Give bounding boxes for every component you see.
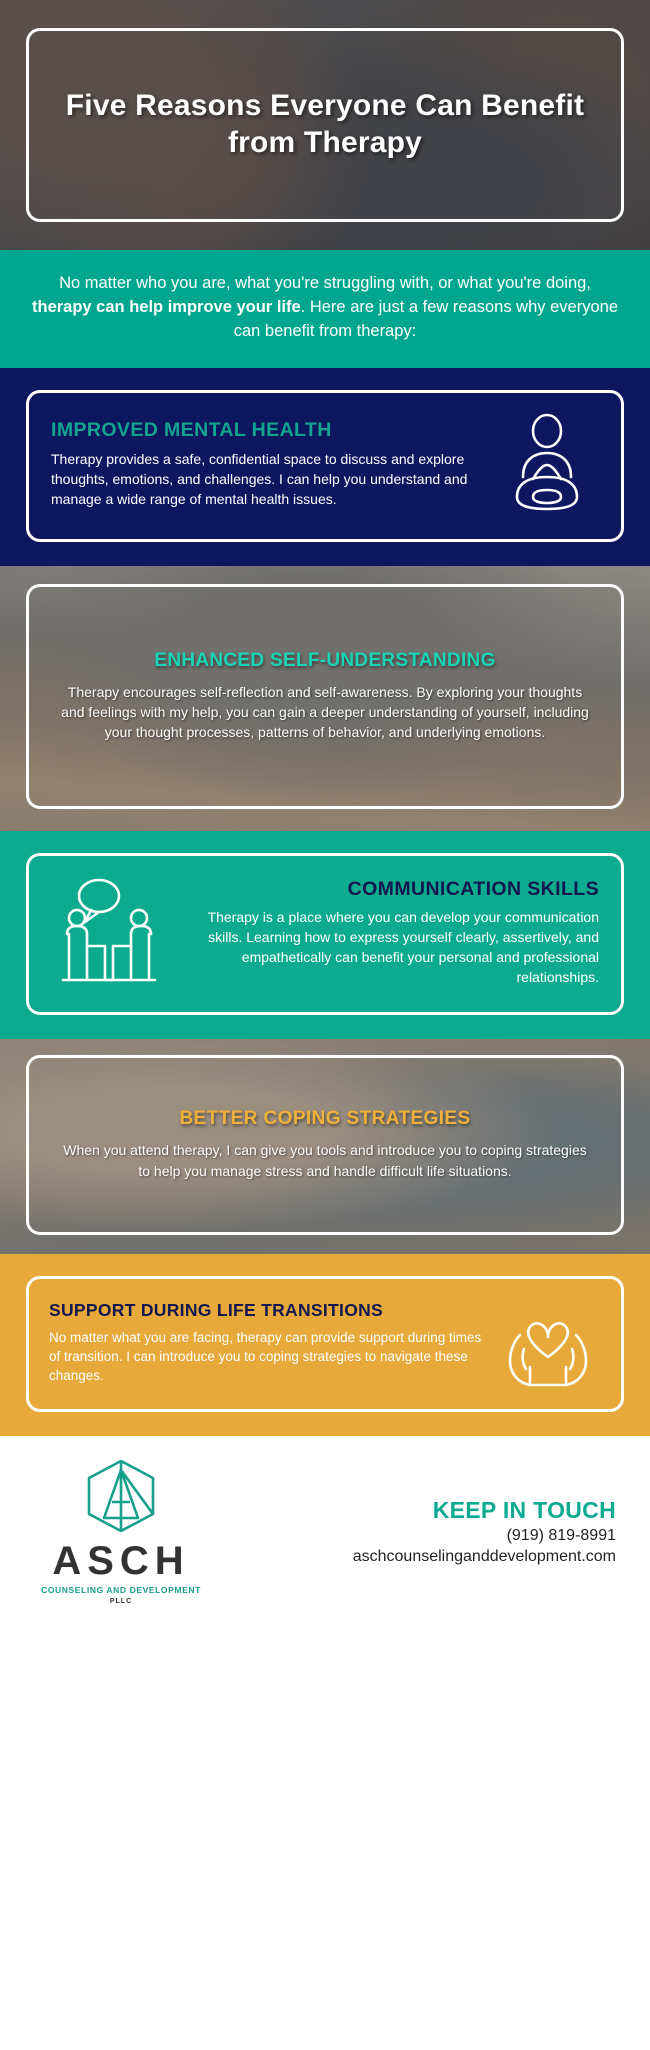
reason-card-3: COMMUNICATION SKILLS Therapy is a place … [26, 853, 624, 1015]
reason-text-3: COMMUNICATION SKILLS Therapy is a place … [193, 878, 599, 988]
meditating-person-icon [495, 413, 599, 517]
reason-heading-5: SUPPORT DURING LIFE TRANSITIONS [49, 1300, 485, 1321]
logo-tagline: COUNSELING AND DEVELOPMENT [41, 1585, 201, 1595]
intro-text-before: No matter who you are, what you're strug… [59, 274, 591, 292]
reason-body-1: Therapy provides a safe, confidential sp… [51, 450, 485, 510]
reason-card-2: ENHANCED SELF-UNDERSTANDING Therapy enco… [26, 584, 624, 809]
reason-body-4: When you attend therapy, I can give you … [59, 1140, 591, 1181]
contact-website[interactable]: aschcounselinganddevelopment.com [216, 1548, 616, 1566]
reason-heading-3: COMMUNICATION SKILLS [193, 878, 599, 901]
reason-section-5: SUPPORT DURING LIFE TRANSITIONS No matte… [0, 1254, 650, 1436]
hexagon-a-logo-icon [82, 1458, 160, 1539]
reason-heading-4: BETTER COPING STRATEGIES [179, 1108, 470, 1130]
reason-section-2: ENHANCED SELF-UNDERSTANDING Therapy enco… [0, 566, 650, 831]
page-title: Five Reasons Everyone Can Benefit from T… [29, 88, 621, 162]
intro-text-bold: therapy can help improve your life [32, 298, 301, 316]
reason-section-1: IMPROVED MENTAL HEALTH Therapy provides … [0, 368, 650, 566]
header-section: Five Reasons Everyone Can Benefit from T… [0, 0, 650, 250]
header-title-card: Five Reasons Everyone Can Benefit from T… [26, 28, 624, 222]
hands-holding-heart-icon [495, 1295, 601, 1391]
intro-section: No matter who you are, what you're strug… [0, 250, 650, 368]
infographic-root: Five Reasons Everyone Can Benefit from T… [0, 0, 650, 2050]
reason-section-4: BETTER COPING STRATEGIES When you attend… [0, 1039, 650, 1254]
reason-section-3: COMMUNICATION SKILLS Therapy is a place … [0, 831, 650, 1039]
reason-heading-1: IMPROVED MENTAL HEALTH [51, 419, 485, 442]
contact-block: KEEP IN TOUCH (919) 819-8991 aschcounsel… [216, 1497, 624, 1566]
contact-phone[interactable]: (919) 819-8991 [216, 1527, 616, 1545]
reason-card-4: BETTER COPING STRATEGIES When you attend… [26, 1055, 624, 1235]
contact-title: KEEP IN TOUCH [216, 1497, 616, 1524]
reason-body-5: No matter what you are facing, therapy c… [49, 1328, 485, 1385]
reason-body-2: Therapy encourages self-reflection and s… [55, 682, 595, 743]
two-people-talking-icon [51, 874, 181, 992]
logo-pllc: PLLC [110, 1598, 132, 1605]
footer-section: ASCH COUNSELING AND DEVELOPMENT PLLC KEE… [0, 1436, 650, 1623]
reason-text-1: IMPROVED MENTAL HEALTH Therapy provides … [51, 419, 485, 510]
reason-text-5: SUPPORT DURING LIFE TRANSITIONS No matte… [49, 1300, 485, 1385]
intro-paragraph: No matter who you are, what you're strug… [32, 272, 618, 344]
reason-body-3: Therapy is a place where you can develop… [193, 908, 599, 988]
reason-card-1: IMPROVED MENTAL HEALTH Therapy provides … [26, 390, 624, 542]
logo-wordmark: ASCH [52, 1541, 189, 1581]
reason-card-5: SUPPORT DURING LIFE TRANSITIONS No matte… [26, 1276, 624, 1412]
brand-logo: ASCH COUNSELING AND DEVELOPMENT PLLC [26, 1458, 216, 1605]
reason-heading-2: ENHANCED SELF-UNDERSTANDING [154, 650, 495, 672]
